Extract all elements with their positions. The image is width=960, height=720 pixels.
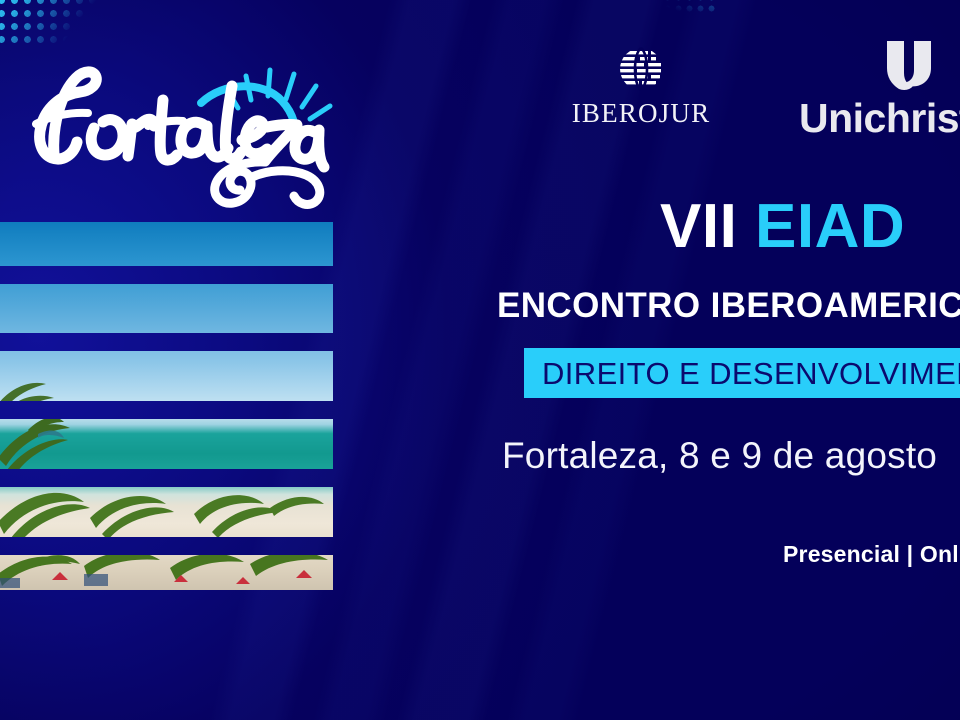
event-date: Fortaleza, 8 e 9 de agosto — [502, 437, 937, 474]
sponsor-name: IBEROJUR — [556, 100, 726, 127]
photo-slice — [0, 555, 333, 605]
beach-photo-slices — [0, 222, 333, 590]
dot-grid-top-center-icon — [662, 0, 718, 14]
u-monogram-icon — [883, 38, 935, 96]
photo-slice — [0, 222, 333, 266]
globe-icon — [614, 42, 668, 96]
photo-slice — [0, 351, 333, 401]
event-theme-badge: DIREITO E DESENVOLVIMENTO — [524, 348, 960, 398]
photo-slice — [0, 419, 333, 469]
sponsor-unichristus: Unichristus — [784, 38, 960, 139]
event-title: VII EIAD — [660, 196, 905, 258]
event-edition: VII — [660, 192, 737, 261]
event-acronym: EIAD — [755, 192, 905, 261]
sponsor-name: Unichristus — [784, 98, 960, 139]
photo-slice — [0, 284, 333, 333]
fortaleza-script-logo — [18, 28, 338, 213]
event-subtitle: ENCONTRO IBEROAMERICANO — [497, 288, 960, 323]
event-banner: IBEROJUR Unichristus VII EIAD ENCONTRO I… — [0, 0, 960, 720]
left-visual-column — [0, 0, 345, 720]
event-format: Presencial | Online — [783, 543, 960, 566]
event-theme-text: DIREITO E DESENVOLVIMENTO — [542, 358, 960, 389]
sponsor-logos: IBEROJUR Unichristus — [556, 42, 960, 147]
sponsor-iberojur: IBEROJUR — [556, 42, 726, 127]
photo-slice — [0, 487, 333, 537]
